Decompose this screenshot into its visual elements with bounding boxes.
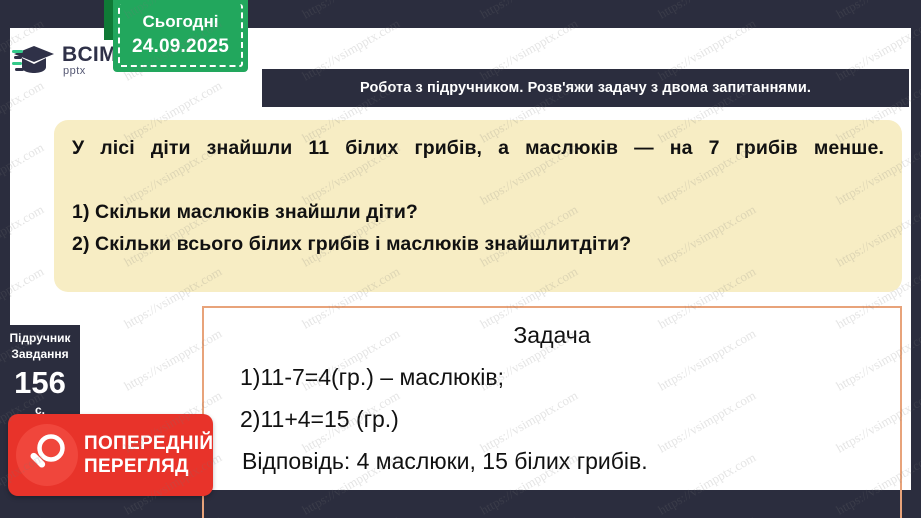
magnifier-icon	[16, 424, 78, 486]
date-badge-value: 24.09.2025	[113, 34, 248, 60]
textbook-kind-label: Завдання	[0, 346, 80, 362]
preview-badge-line-1: ПОПЕРЕДНІЙ	[84, 432, 213, 455]
task-question-1: 1) Скільки маслюків знайшли діти?	[72, 196, 884, 228]
slide-viewer: BCIM pptx Робота з підручником. Розв'яжи…	[0, 0, 921, 518]
date-badge: Сьогодні 24.09.2025	[113, 0, 248, 72]
graduation-cap-icon	[12, 40, 58, 80]
page-title: Робота з підручником. Розв'яжи задачу з …	[360, 80, 811, 96]
task-question-2: 2) Скільки всього білих грибів і маслюкі…	[72, 228, 884, 260]
task-statement-box: У лісі діти знайшли 11 білих грибів, а м…	[54, 120, 902, 292]
date-badge-label: Сьогодні	[113, 10, 248, 34]
solution-step-1: 1)11-7=4(гр.) – маслюків;	[218, 356, 886, 398]
textbook-task-number: 156	[0, 364, 80, 402]
preview-badge[interactable]: ПОПЕРЕДНІЙ ПЕРЕГЛЯД	[8, 414, 213, 496]
solution-step-2: 2)11+4=15 (гр.)	[218, 398, 886, 440]
preview-badge-line-2: ПЕРЕГЛЯД	[84, 455, 213, 478]
logo-name: BCIM	[62, 44, 117, 65]
solution-title: Задача	[218, 314, 886, 356]
task-statement-text: У лісі діти знайшли 11 білих грибів, а м…	[72, 132, 884, 196]
logo-subtitle: pptx	[63, 66, 117, 77]
slide-header-bar: Робота з підручником. Розв'яжи задачу з …	[262, 69, 909, 107]
solution-box: Задача 1)11-7=4(гр.) – маслюків; 2)11+4=…	[202, 306, 902, 518]
solution-answer: Відповідь: 4 маслюки, 15 білих грибів.	[218, 440, 886, 482]
textbook-source-label: Підручник	[0, 330, 80, 346]
